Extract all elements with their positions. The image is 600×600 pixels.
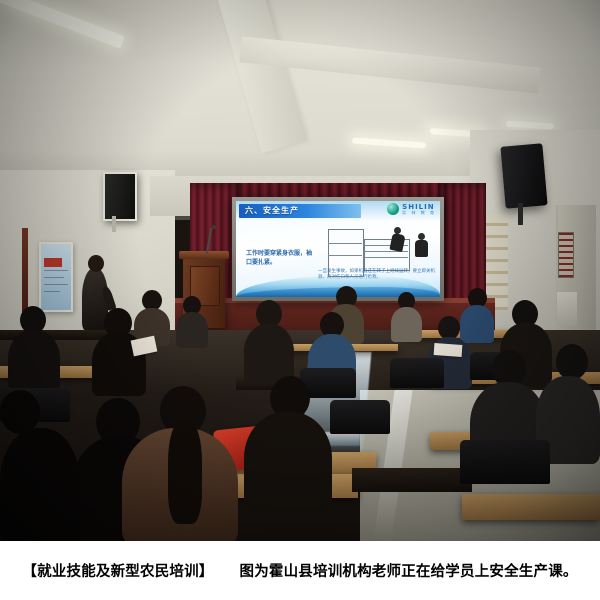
- globe-icon: [387, 203, 399, 215]
- chair: [460, 440, 550, 484]
- audience-person: [8, 330, 60, 392]
- wall-poster: [39, 242, 73, 312]
- audience-person: [460, 305, 494, 343]
- desk-row: [462, 494, 600, 520]
- poster-red-banner: [44, 258, 62, 267]
- worker-body-icon: [415, 240, 428, 257]
- caption-body: 图为霍山县培训机构老师正在给学员上安全生产课。: [240, 560, 578, 581]
- slide-left-text: 工作时要穿紧身衣服，袖口要扎紧。: [246, 249, 316, 267]
- projection-screen: 六、安全生产 SHILIN 实 林 教 育 工作时要穿紧身衣服，袖口要扎紧。: [232, 197, 444, 301]
- caption-title: 【就业技能及新型农民培训】: [22, 560, 213, 581]
- wall-speaker-right: [500, 143, 547, 208]
- image-page: 六、安全生产 SHILIN 实 林 教 育 工作时要穿紧身衣服，袖口要扎紧。: [0, 0, 600, 600]
- training-classroom-photo: 六、安全生产 SHILIN 实 林 教 育 工作时要穿紧身衣服，袖口要扎紧。: [0, 0, 600, 541]
- paper-sheet: [434, 343, 463, 357]
- air-conditioner-panel: [557, 292, 577, 326]
- chair: [330, 400, 390, 434]
- desk-row: [352, 468, 472, 492]
- audience-person: [244, 324, 294, 384]
- air-conditioner-vent: [558, 232, 574, 278]
- caption-bar: 【就业技能及新型农民培训】 图为霍山县培训机构老师正在给学员上安全生产课。: [0, 541, 600, 600]
- speaker-mount-right: [518, 203, 523, 225]
- slide-logo-sub: 实 林 教 育: [402, 211, 436, 215]
- chair: [390, 358, 444, 388]
- slide-title: 六、安全生产: [239, 204, 361, 218]
- speaker-mount-left: [112, 216, 116, 232]
- audience-person: [176, 312, 208, 348]
- audience-person: [391, 307, 422, 342]
- presentation-slide: 六、安全生产 SHILIN 实 林 教 育 工作时要穿紧身衣服，袖口要扎紧。: [236, 201, 440, 297]
- slide-title-bar: 六、安全生产: [239, 204, 361, 218]
- slide-logo: SHILIN 实 林 教 育: [387, 203, 436, 215]
- audience-hair: [168, 420, 202, 524]
- worker-head-icon: [418, 233, 425, 240]
- wall-speaker-left: [103, 172, 137, 221]
- audience-head: [556, 344, 588, 380]
- audience-person-foreground: [244, 412, 332, 512]
- podium-top: [179, 251, 229, 259]
- audience-person-foreground: [0, 428, 80, 541]
- teacher-head: [88, 255, 104, 272]
- microphone-head: [212, 225, 216, 229]
